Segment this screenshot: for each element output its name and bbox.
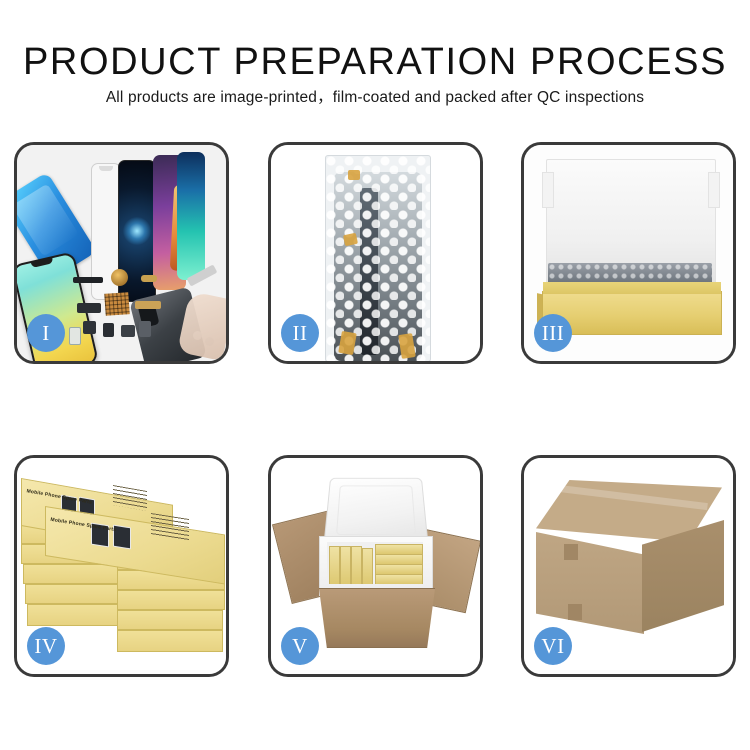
step-badge-3: III [534,314,572,352]
spare-part-icon [73,277,103,283]
step-badge-1: I [27,314,65,352]
chip-board-icon [104,292,129,316]
spare-part-icon [69,327,81,345]
packed-boxes-group [327,542,423,584]
speaker-icon [111,269,128,286]
foam-lid-icon [323,478,428,545]
spare-part-icon [77,303,101,313]
kraft-carton-icon [311,588,443,648]
process-step-panel-6[interactable]: VI [521,455,736,677]
bubble-wrap-bag-icon [325,155,431,362]
step-badge-5: V [281,627,319,665]
process-step-panel-1[interactable]: I [14,142,229,364]
step-badge-4: IV [27,627,65,665]
process-step-panel-2[interactable]: II [268,142,483,364]
spare-part-icon [139,321,151,337]
screen-teal-icon [177,152,205,280]
spare-part-icon [83,321,96,334]
spare-part-icon [141,275,157,282]
process-step-grid: I II III [0,0,750,750]
process-step-panel-5[interactable]: V [268,455,483,677]
tape-icon [348,170,360,180]
spare-part-icon [121,325,135,337]
spare-part-icon [135,301,161,309]
process-step-panel-3[interactable]: III [521,142,736,364]
process-step-panel-4[interactable]: Mobile Phone Spare Parts Mobile Phone Sp… [14,455,229,677]
carton-tape-icon [568,604,582,620]
spare-part-icon [103,323,114,337]
carton-tape-icon [564,544,578,560]
step-badge-6: VI [534,627,572,665]
step-badge-2: II [281,314,319,352]
